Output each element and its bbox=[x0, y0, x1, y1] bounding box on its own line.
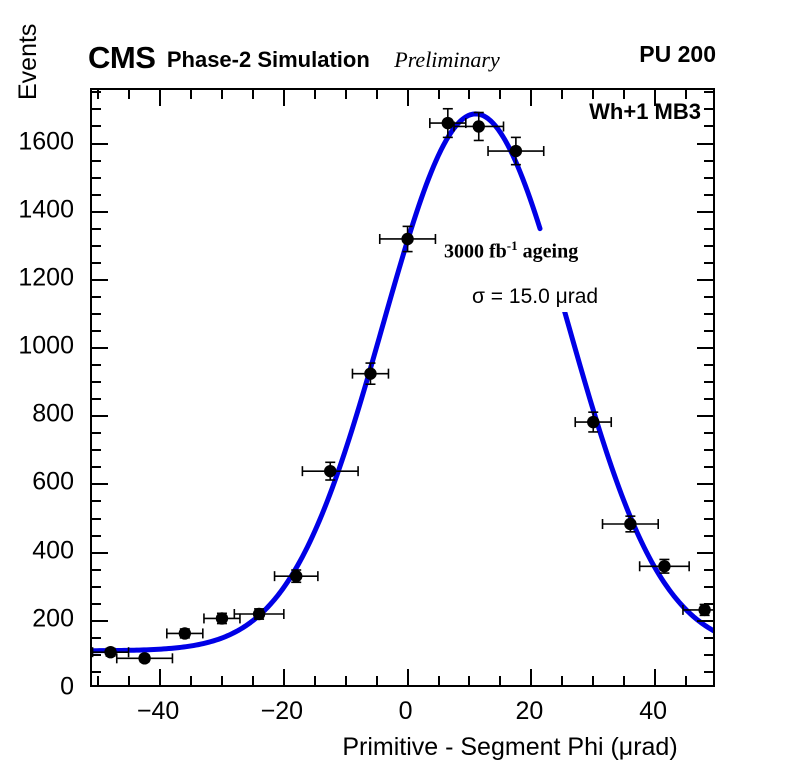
y-axis-tick bbox=[697, 347, 713, 349]
x-axis-tick bbox=[623, 676, 625, 685]
x-axis-tick bbox=[190, 90, 192, 99]
y-axis-tick bbox=[697, 211, 713, 213]
y-axis-tick bbox=[704, 194, 713, 196]
y-axis-tick-label: 1000 bbox=[18, 332, 74, 361]
x-axis-tick bbox=[561, 90, 563, 99]
y-axis-tick bbox=[704, 500, 713, 502]
header-left-group: CMS Phase-2 Simulation Preliminary bbox=[88, 40, 500, 76]
y-axis-tick bbox=[704, 654, 713, 656]
y-axis-tick bbox=[704, 245, 713, 247]
data-point-marker bbox=[104, 646, 116, 658]
y-axis-tick-label: 800 bbox=[32, 400, 74, 429]
y-axis-tick bbox=[92, 262, 101, 264]
y-axis-tick bbox=[92, 466, 101, 468]
y-axis-title: Events bbox=[14, 24, 43, 100]
data-layer bbox=[92, 90, 713, 685]
y-axis-tick bbox=[92, 143, 108, 145]
y-axis-tick bbox=[704, 535, 713, 537]
x-axis-tick bbox=[314, 676, 316, 685]
data-point-marker bbox=[324, 465, 336, 477]
x-axis-tick bbox=[438, 676, 440, 685]
y-axis-tick-label: 1600 bbox=[18, 127, 74, 156]
y-axis-tick bbox=[704, 91, 713, 93]
data-point-marker bbox=[364, 367, 376, 379]
x-axis-tick bbox=[252, 676, 254, 685]
y-axis-tick bbox=[92, 449, 101, 451]
x-axis-tick bbox=[128, 90, 130, 99]
x-axis-tick bbox=[468, 90, 470, 99]
x-axis-tick bbox=[283, 90, 285, 106]
y-axis-tick-label: 600 bbox=[32, 468, 74, 497]
x-axis-tick bbox=[376, 90, 378, 99]
y-axis-tick bbox=[697, 279, 713, 281]
y-axis-tick bbox=[92, 108, 101, 110]
data-point-marker bbox=[290, 570, 302, 582]
y-axis-tick bbox=[92, 637, 101, 639]
y-axis-tick-label: 200 bbox=[32, 604, 74, 633]
x-axis-tick bbox=[561, 676, 563, 685]
y-axis-tick bbox=[697, 415, 713, 417]
y-axis-tick bbox=[92, 483, 108, 485]
ageing-word: ageing bbox=[518, 241, 579, 263]
y-axis-tick bbox=[92, 654, 101, 656]
y-axis-tick-label: 400 bbox=[32, 536, 74, 565]
x-axis-tick bbox=[97, 676, 99, 685]
y-axis-tick bbox=[92, 569, 101, 571]
x-axis-tick bbox=[530, 669, 532, 685]
y-axis-tick bbox=[92, 552, 108, 554]
fit-curve-segment bbox=[562, 303, 713, 631]
y-axis-tick bbox=[92, 160, 101, 162]
y-axis-tick bbox=[92, 313, 101, 315]
y-axis-tick bbox=[704, 432, 713, 434]
x-axis-tick bbox=[345, 676, 347, 685]
x-axis-tick bbox=[592, 90, 594, 99]
plot-canvas: CMS Phase-2 Simulation Preliminary PU 20… bbox=[0, 0, 796, 772]
y-axis-tick bbox=[92, 432, 101, 434]
data-point-marker bbox=[698, 604, 710, 616]
x-axis-tick-label: −40 bbox=[137, 697, 179, 726]
y-axis-tick bbox=[704, 518, 713, 520]
x-axis-tick bbox=[221, 676, 223, 685]
x-axis-tick-label: 0 bbox=[399, 697, 413, 726]
y-axis-tick bbox=[704, 364, 713, 366]
x-axis-tick bbox=[159, 90, 161, 106]
data-point-marker bbox=[442, 117, 454, 129]
x-axis-tick bbox=[623, 90, 625, 99]
x-axis-tick bbox=[252, 90, 254, 99]
x-axis-tick bbox=[128, 676, 130, 685]
y-axis-tick bbox=[704, 108, 713, 110]
plot-frame: Wh+1 MB3 3000 fb-1 ageing σ = 15.0 μrad bbox=[90, 88, 715, 687]
x-axis-tick bbox=[345, 90, 347, 99]
plot-inner-area: Wh+1 MB3 3000 fb-1 ageing σ = 15.0 μrad bbox=[92, 90, 713, 685]
y-axis-tick bbox=[704, 125, 713, 127]
y-axis-tick bbox=[92, 330, 101, 332]
y-axis-tick bbox=[704, 228, 713, 230]
x-axis-tick bbox=[221, 90, 223, 99]
y-axis-tick bbox=[92, 364, 101, 366]
x-axis-title-wrap: Primitive - Segment Phi (μrad) bbox=[0, 733, 796, 762]
data-point-marker bbox=[658, 560, 670, 572]
y-axis-tick bbox=[92, 125, 101, 127]
ageing-exponent: -1 bbox=[507, 238, 518, 253]
y-axis-tick bbox=[92, 603, 101, 605]
data-point-marker bbox=[473, 120, 485, 132]
data-point-marker bbox=[401, 233, 413, 245]
y-axis-tick bbox=[704, 160, 713, 162]
y-axis-tick bbox=[697, 620, 713, 622]
ageing-label: 3000 fb-1 ageing bbox=[440, 235, 582, 267]
y-axis-tick bbox=[92, 586, 101, 588]
y-axis-tick bbox=[92, 620, 108, 622]
x-axis-tick bbox=[685, 676, 687, 685]
y-axis-tick bbox=[92, 245, 101, 247]
x-axis-tick bbox=[407, 90, 409, 106]
preliminary-status: Preliminary bbox=[394, 47, 500, 72]
data-point-marker bbox=[587, 416, 599, 428]
x-axis-tick bbox=[468, 676, 470, 685]
data-point-marker bbox=[253, 608, 265, 620]
data-point-marker bbox=[624, 518, 636, 530]
y-axis-tick bbox=[697, 552, 713, 554]
x-axis-tick bbox=[499, 676, 501, 685]
y-axis-tick bbox=[92, 535, 101, 537]
x-axis-tick bbox=[97, 90, 99, 99]
x-axis-tick bbox=[283, 669, 285, 685]
y-axis-tick bbox=[92, 381, 101, 383]
y-axis-tick bbox=[697, 143, 713, 145]
data-point-marker bbox=[510, 145, 522, 157]
y-axis-tick bbox=[92, 518, 101, 520]
ageing-value: 3000 fb bbox=[444, 241, 507, 263]
x-axis-tick bbox=[314, 90, 316, 99]
y-axis-tick bbox=[92, 347, 108, 349]
y-axis-tick bbox=[92, 500, 101, 502]
y-axis-tick bbox=[704, 330, 713, 332]
x-axis-tick-label: 40 bbox=[639, 697, 667, 726]
y-axis-tick bbox=[704, 466, 713, 468]
y-axis-tick bbox=[697, 483, 713, 485]
x-axis-tick bbox=[499, 90, 501, 99]
x-axis-tick-label: −20 bbox=[261, 697, 303, 726]
y-axis-tick bbox=[704, 637, 713, 639]
y-axis-tick bbox=[704, 449, 713, 451]
pileup-label: PU 200 bbox=[639, 41, 716, 68]
y-axis-tick bbox=[92, 211, 108, 213]
data-point-marker bbox=[179, 627, 191, 639]
y-axis-tick-label: 1200 bbox=[18, 263, 74, 292]
y-axis-tick bbox=[92, 398, 101, 400]
x-axis-tick bbox=[407, 669, 409, 685]
data-point-marker bbox=[216, 612, 228, 624]
x-axis-tick bbox=[438, 90, 440, 99]
fit-curve-segment bbox=[92, 114, 540, 651]
y-axis-tick bbox=[704, 296, 713, 298]
y-axis-tick bbox=[92, 177, 101, 179]
simulation-subtitle: Phase-2 Simulation bbox=[167, 47, 370, 72]
y-axis-tick bbox=[92, 228, 101, 230]
y-axis-tick bbox=[92, 671, 101, 673]
error-bar-group bbox=[93, 109, 713, 664]
y-axis-tick bbox=[704, 313, 713, 315]
plot-header: CMS Phase-2 Simulation Preliminary PU 20… bbox=[88, 40, 716, 74]
fit-curve-group bbox=[92, 114, 713, 651]
y-axis-tick bbox=[92, 296, 101, 298]
x-axis-tick bbox=[685, 90, 687, 99]
data-point-group bbox=[104, 117, 710, 665]
y-axis-tick-label: 0 bbox=[60, 673, 74, 702]
y-axis-tick bbox=[704, 569, 713, 571]
y-axis-tick bbox=[92, 194, 101, 196]
x-axis-tick bbox=[190, 676, 192, 685]
region-label: Wh+1 MB3 bbox=[587, 98, 703, 126]
x-axis-tick-label: 20 bbox=[515, 697, 543, 726]
data-point-marker bbox=[138, 652, 150, 664]
y-axis-tick bbox=[704, 262, 713, 264]
y-axis-tick bbox=[92, 279, 108, 281]
y-axis-tick bbox=[704, 398, 713, 400]
x-axis-tick bbox=[376, 676, 378, 685]
cms-logo-text: CMS bbox=[88, 40, 155, 75]
y-axis-tick bbox=[704, 671, 713, 673]
y-axis-tick-label: 1400 bbox=[18, 195, 74, 224]
y-axis-tick bbox=[704, 586, 713, 588]
x-axis-tick bbox=[654, 90, 656, 106]
x-axis-tick bbox=[654, 669, 656, 685]
y-axis-tick bbox=[704, 177, 713, 179]
y-axis-tick bbox=[704, 381, 713, 383]
sigma-label: σ = 15.0 μrad bbox=[466, 282, 604, 312]
x-axis-tick bbox=[159, 669, 161, 685]
y-axis-tick bbox=[704, 603, 713, 605]
x-axis-title: Primitive - Segment Phi (μrad) bbox=[342, 733, 677, 761]
y-axis-tick bbox=[92, 415, 108, 417]
x-axis-tick bbox=[530, 90, 532, 106]
x-axis-tick bbox=[592, 676, 594, 685]
